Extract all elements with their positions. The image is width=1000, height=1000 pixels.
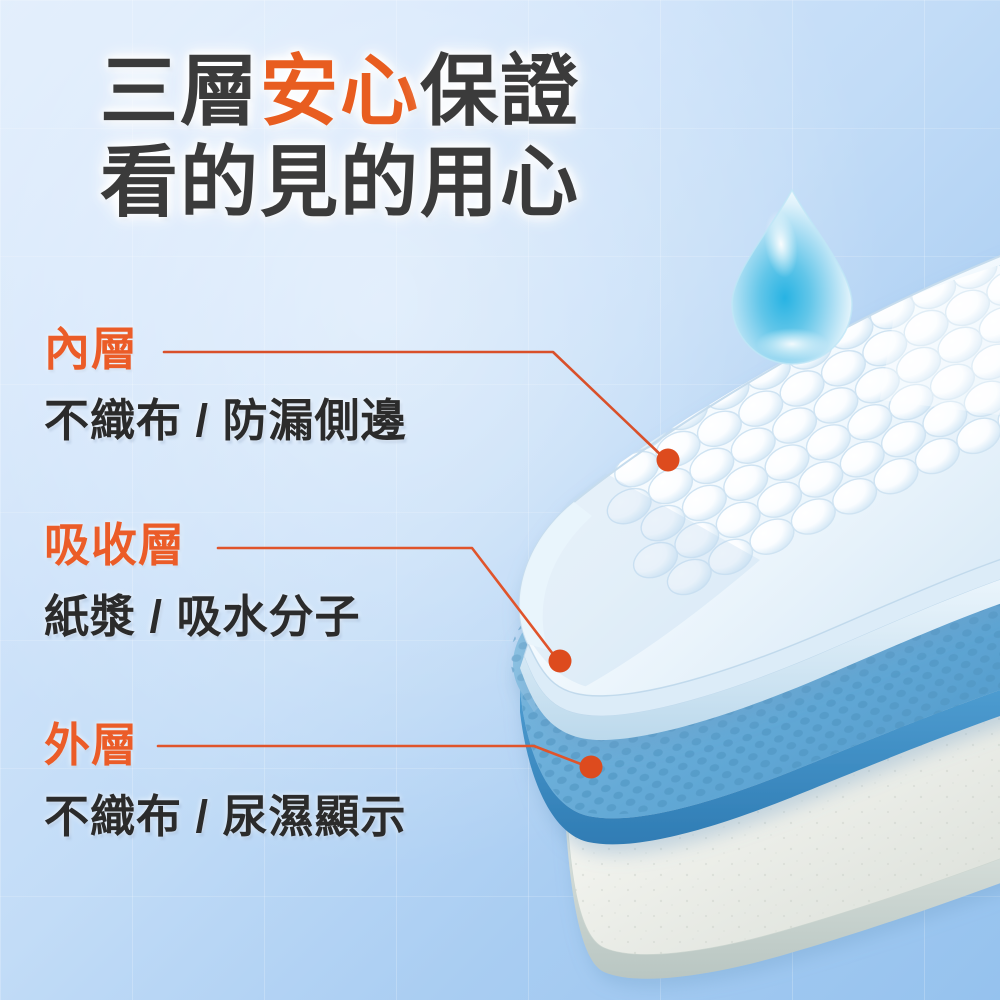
layer-label-outer: 外層 不織布 / 尿濕顯示 (44, 722, 407, 839)
layer-label-absorbent: 吸收層 紙漿 / 吸水分子 (44, 522, 361, 639)
headline-part-2: 保證 (420, 47, 580, 135)
marker-dot-outer (580, 756, 603, 779)
marker-dot-inner (657, 449, 680, 472)
layer-desc-outer: 不織布 / 尿濕顯示 (44, 794, 407, 839)
poster-canvas: 三層安心保證 看的見的用心 內層 不織布 / 防漏側邊 吸收層 紙漿 / 吸水分… (0, 0, 1000, 1000)
headline-line-2: 看的見的用心 (0, 139, 680, 226)
headline-part-1: 三層 (100, 47, 260, 135)
marker-dot-absorbent (549, 650, 572, 673)
layer-name-inner: 內層 (44, 326, 407, 372)
layer-name-absorbent: 吸收層 (44, 522, 361, 568)
layer-desc-absorbent: 紙漿 / 吸水分子 (44, 594, 361, 639)
headline-block: 三層安心保證 看的見的用心 (0, 48, 680, 227)
headline-line-1: 三層安心保證 (0, 48, 680, 135)
layer-desc-inner: 不織布 / 防漏側邊 (44, 398, 407, 443)
layer-name-outer: 外層 (44, 722, 407, 768)
layer-label-inner: 內層 不織布 / 防漏側邊 (44, 326, 407, 443)
headline-accent: 安心 (260, 47, 420, 135)
